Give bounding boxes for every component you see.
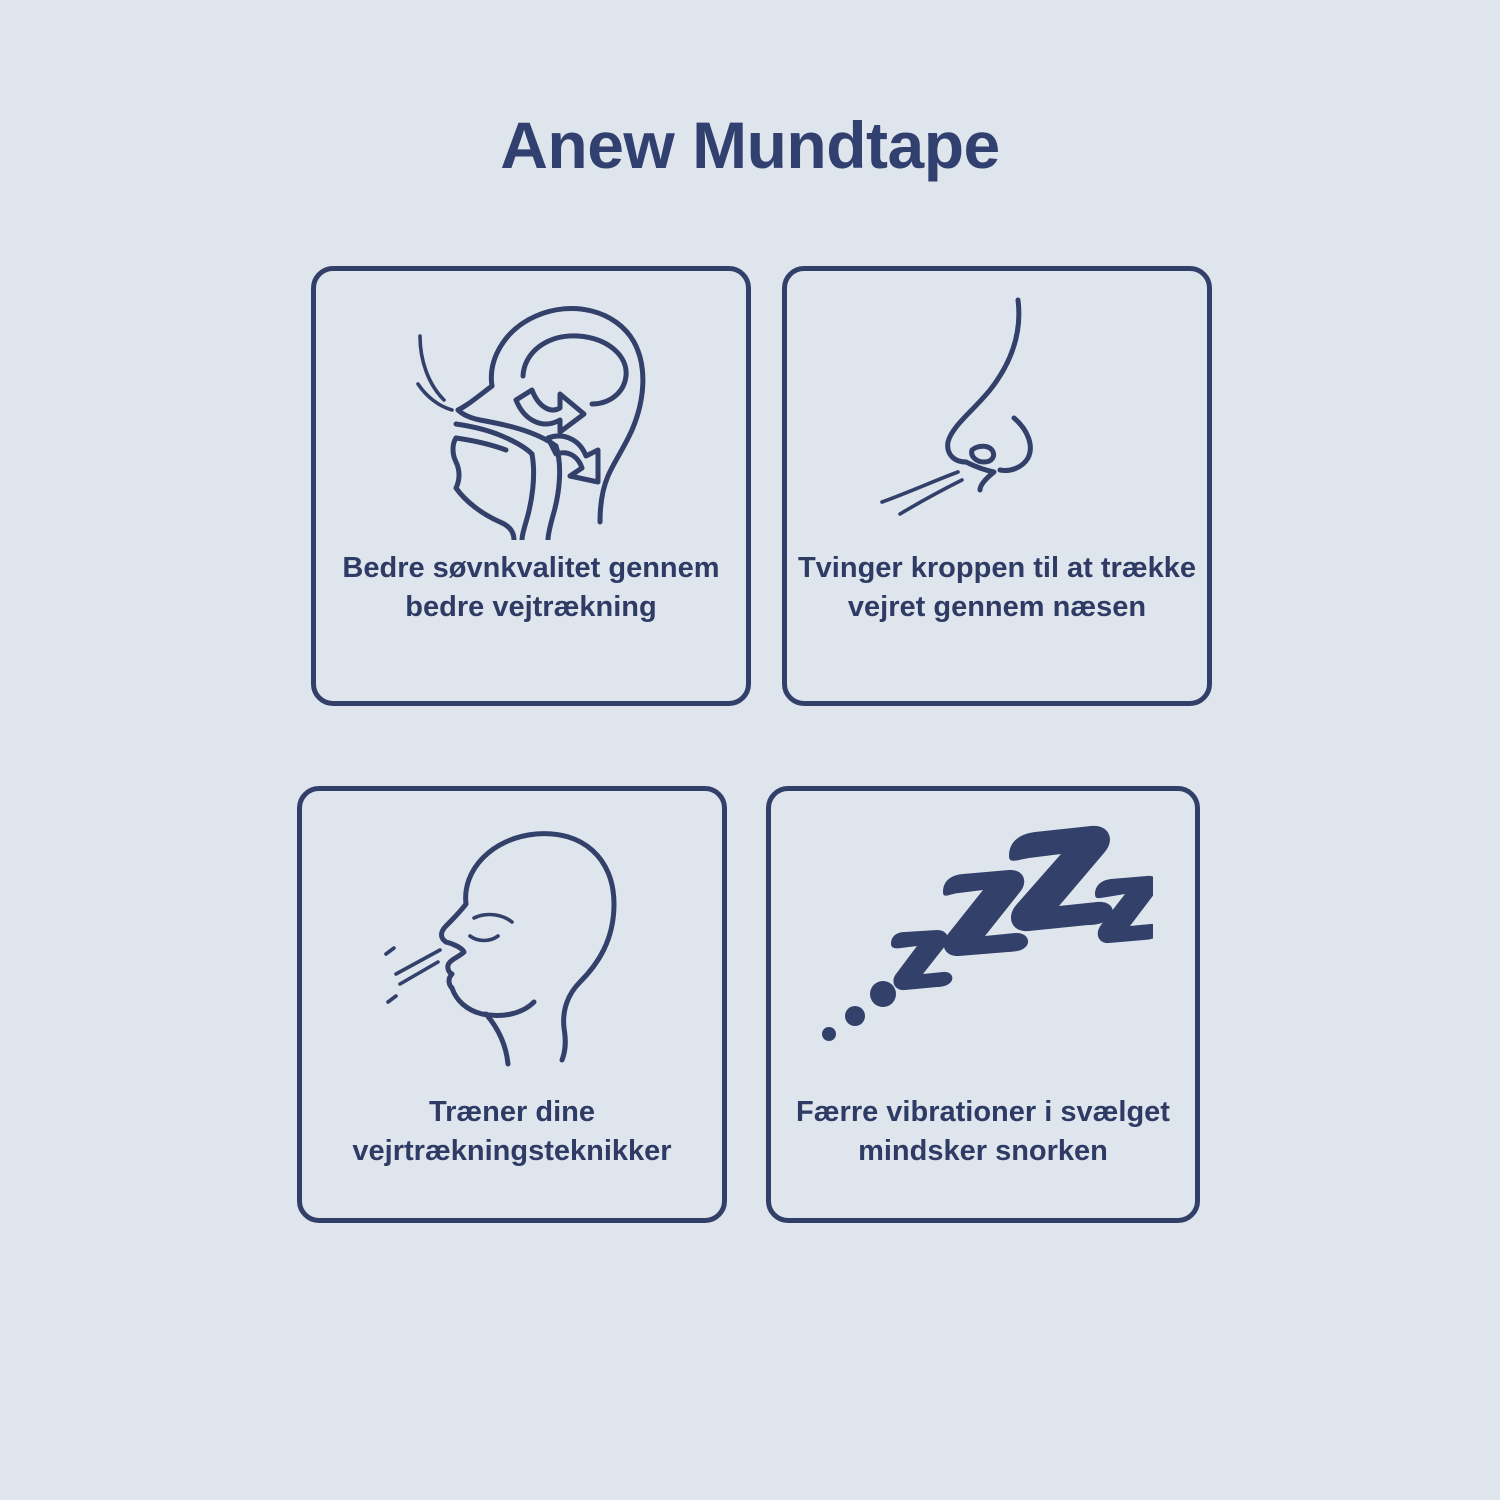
benefit-card-label: Træner dine vejrtrækningsteknikker — [302, 1093, 722, 1170]
benefit-card-sleep-quality[interactable]: Bedre søvnkvalitet gennem bedre vejtrækn… — [311, 266, 751, 706]
benefit-card-label: Færre vibrationer i svælget mindsker sno… — [771, 1093, 1195, 1170]
benefit-card-nose-breathing[interactable]: Tvinger kroppen til at trække vejret gen… — [782, 266, 1212, 706]
benefit-cards-grid: Bedre søvnkvalitet gennem bedre vejtrækn… — [0, 0, 1500, 1500]
benefit-card-label: Tvinger kroppen til at trække vejret gen… — [787, 549, 1207, 626]
benefit-card-breathing-technique[interactable]: Træner dine vejrtrækningsteknikker — [297, 786, 727, 1223]
nose-airflow-icon — [787, 271, 1207, 549]
benefit-card-less-snoring[interactable]: Færre vibrationer i svælget mindsker sno… — [766, 786, 1200, 1223]
zzz-snoring-icon — [771, 791, 1195, 1093]
benefit-card-label: Bedre søvnkvalitet gennem bedre vejtrækn… — [316, 549, 746, 626]
head-profile-breathing-icon — [302, 791, 722, 1093]
infographic-page: Anew Mundtape — [0, 0, 1500, 1500]
head-airway-breathing-icon — [316, 271, 746, 549]
